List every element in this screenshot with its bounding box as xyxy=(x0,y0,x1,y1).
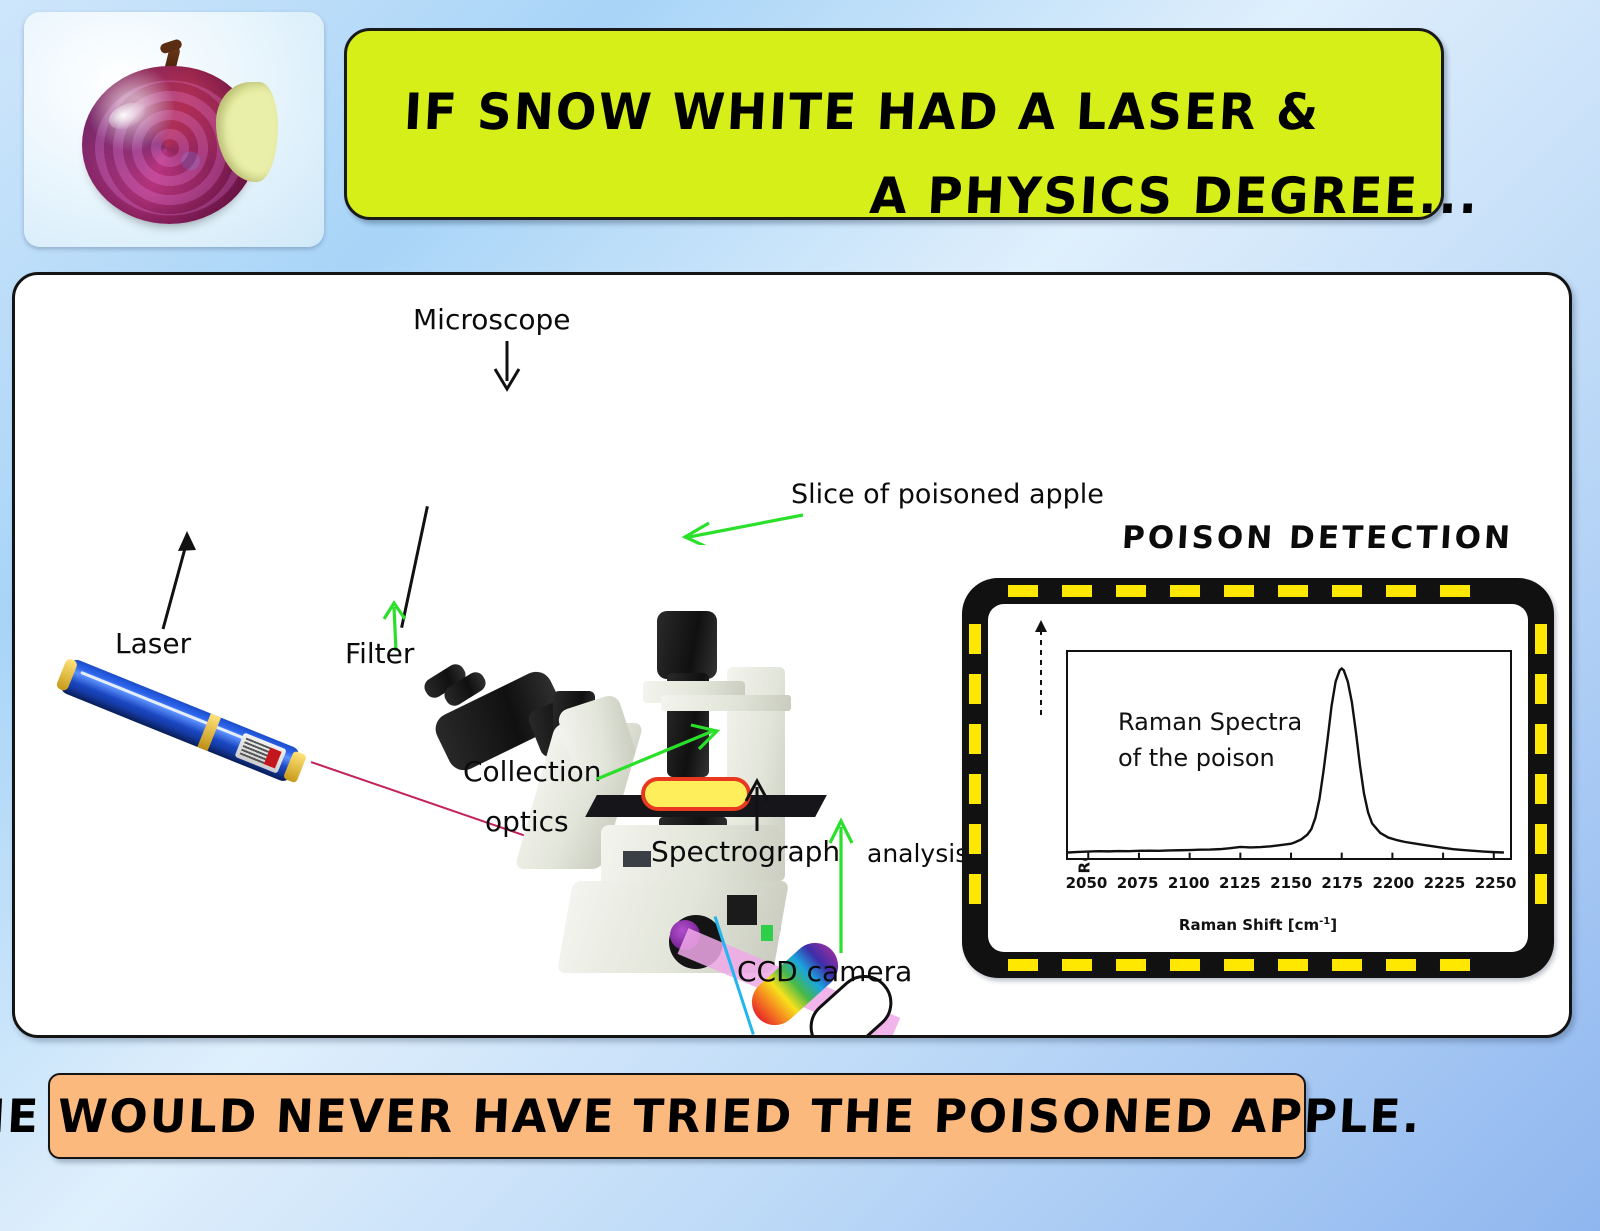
slice-pointer-icon xyxy=(675,511,805,545)
hazard-dash xyxy=(1440,959,1470,971)
hazard-dash xyxy=(1440,585,1470,597)
hazard-dash xyxy=(1008,585,1038,597)
hazard-dash xyxy=(1116,585,1146,597)
hazard-dash xyxy=(1170,959,1200,971)
chart-annotation-line2: of the poison xyxy=(1118,740,1302,776)
laser-specular xyxy=(80,671,257,745)
bottom-caption-banner: SHE WOULD NEVER HAVE TRIED THE POISONED … xyxy=(48,1073,1306,1159)
bottom-caption-text: SHE WOULD NEVER HAVE TRIED THE POISONED … xyxy=(0,1089,1422,1143)
laser-end-cap xyxy=(55,658,78,692)
hazard-dash xyxy=(969,824,981,854)
hazard-dash xyxy=(1332,959,1362,971)
apple-thumbnail-card xyxy=(24,12,324,247)
hazard-dash xyxy=(1116,959,1146,971)
x-axis-label: Raman Shift [cm-1] xyxy=(988,916,1528,934)
laser-arrow-icon xyxy=(145,525,205,635)
label-slice-of-poisoned-apple: Slice of poisoned apple xyxy=(791,479,1104,510)
hazard-dash xyxy=(1224,959,1254,971)
x-tick-label: 2125 xyxy=(1219,874,1261,892)
hazard-dash xyxy=(1278,585,1308,597)
hazard-dash xyxy=(1278,959,1308,971)
x-axis-ticks: 205020752100212521502175220022252250 xyxy=(1066,874,1512,896)
x-axis-label-exponent: -1 xyxy=(1319,916,1330,927)
title-banner: IF SNOW WHITE HAD A LASER & A PHYSICS DE… xyxy=(344,28,1444,220)
chart-annotation: Raman Spectra of the poison xyxy=(1118,704,1302,776)
hazard-dash xyxy=(1170,585,1200,597)
hazard-dash xyxy=(1535,624,1547,654)
label-laser: Laser xyxy=(115,627,191,660)
hazard-dash xyxy=(1535,724,1547,754)
hazard-dash xyxy=(969,774,981,804)
hazard-dash xyxy=(1332,585,1362,597)
label-microscope: Microscope xyxy=(413,303,570,336)
spectrograph-arrow-icon xyxy=(737,775,777,835)
hazard-dash xyxy=(1224,585,1254,597)
microscope-arrow-icon xyxy=(487,337,527,393)
condenser-bracket xyxy=(661,695,791,711)
collection-optics-arrow-icon xyxy=(595,723,725,783)
power-led xyxy=(761,925,773,941)
hazard-dash xyxy=(969,674,981,704)
label-spectrograph: Spectrograph xyxy=(651,835,840,868)
hazard-dash xyxy=(1062,585,1092,597)
laser-label-sticker xyxy=(234,732,286,773)
laser-tube xyxy=(58,657,301,783)
x-tick-label: 2200 xyxy=(1372,874,1414,892)
label-ccd-camera: CCD camera xyxy=(737,955,912,988)
laser-aperture xyxy=(283,750,307,783)
condenser-lamp-housing xyxy=(657,611,717,679)
x-tick-label: 2175 xyxy=(1321,874,1363,892)
body-badge xyxy=(623,851,651,867)
x-axis-label-tail: ] xyxy=(1330,916,1337,934)
hazard-dash xyxy=(1535,674,1547,704)
chart-annotation-line1: Raman Spectra xyxy=(1118,704,1302,740)
hazard-dash xyxy=(1008,959,1038,971)
raman-chart-card: Relative Intensity Raman Spectra of the … xyxy=(988,604,1528,952)
title-line-2: A PHYSICS DEGREE... xyxy=(868,167,1480,225)
x-tick-label: 2250 xyxy=(1475,874,1517,892)
x-tick-label: 2225 xyxy=(1424,874,1466,892)
apple-image xyxy=(74,44,274,224)
hazard-dash xyxy=(969,624,981,654)
x-axis-label-text: Raman Shift [cm xyxy=(1179,916,1319,934)
y-axis-arrow-icon xyxy=(1040,630,1042,718)
label-collection-optics-1: Collection xyxy=(463,755,602,788)
x-tick-label: 2100 xyxy=(1168,874,1210,892)
poison-detection-title: POISON DETECTION xyxy=(1121,520,1514,556)
x-tick-label: 2150 xyxy=(1270,874,1312,892)
x-tick-label: 2075 xyxy=(1117,874,1159,892)
label-collection-optics-2: optics xyxy=(485,805,569,838)
raman-chart-frame: Relative Intensity Raman Spectra of the … xyxy=(962,578,1554,978)
label-analysis: analysis xyxy=(867,839,968,868)
x-tick-label: 2050 xyxy=(1066,874,1108,892)
hazard-dash xyxy=(969,874,981,904)
hazard-dash xyxy=(1386,959,1416,971)
hazard-dash xyxy=(1062,959,1092,971)
hazard-dash xyxy=(1535,824,1547,854)
ccd-arrow-icon xyxy=(823,817,859,957)
poster-root: IF SNOW WHITE HAD A LASER & A PHYSICS DE… xyxy=(0,0,1600,1231)
hazard-dash xyxy=(1535,774,1547,804)
hazard-dash xyxy=(1386,585,1416,597)
label-filter: Filter xyxy=(345,637,414,670)
hazard-dash xyxy=(1535,874,1547,904)
body-port-square xyxy=(727,895,757,925)
title-line-1: IF SNOW WHITE HAD A LASER & xyxy=(403,83,1322,141)
laser-pointer xyxy=(58,657,301,783)
hazard-dash xyxy=(969,724,981,754)
